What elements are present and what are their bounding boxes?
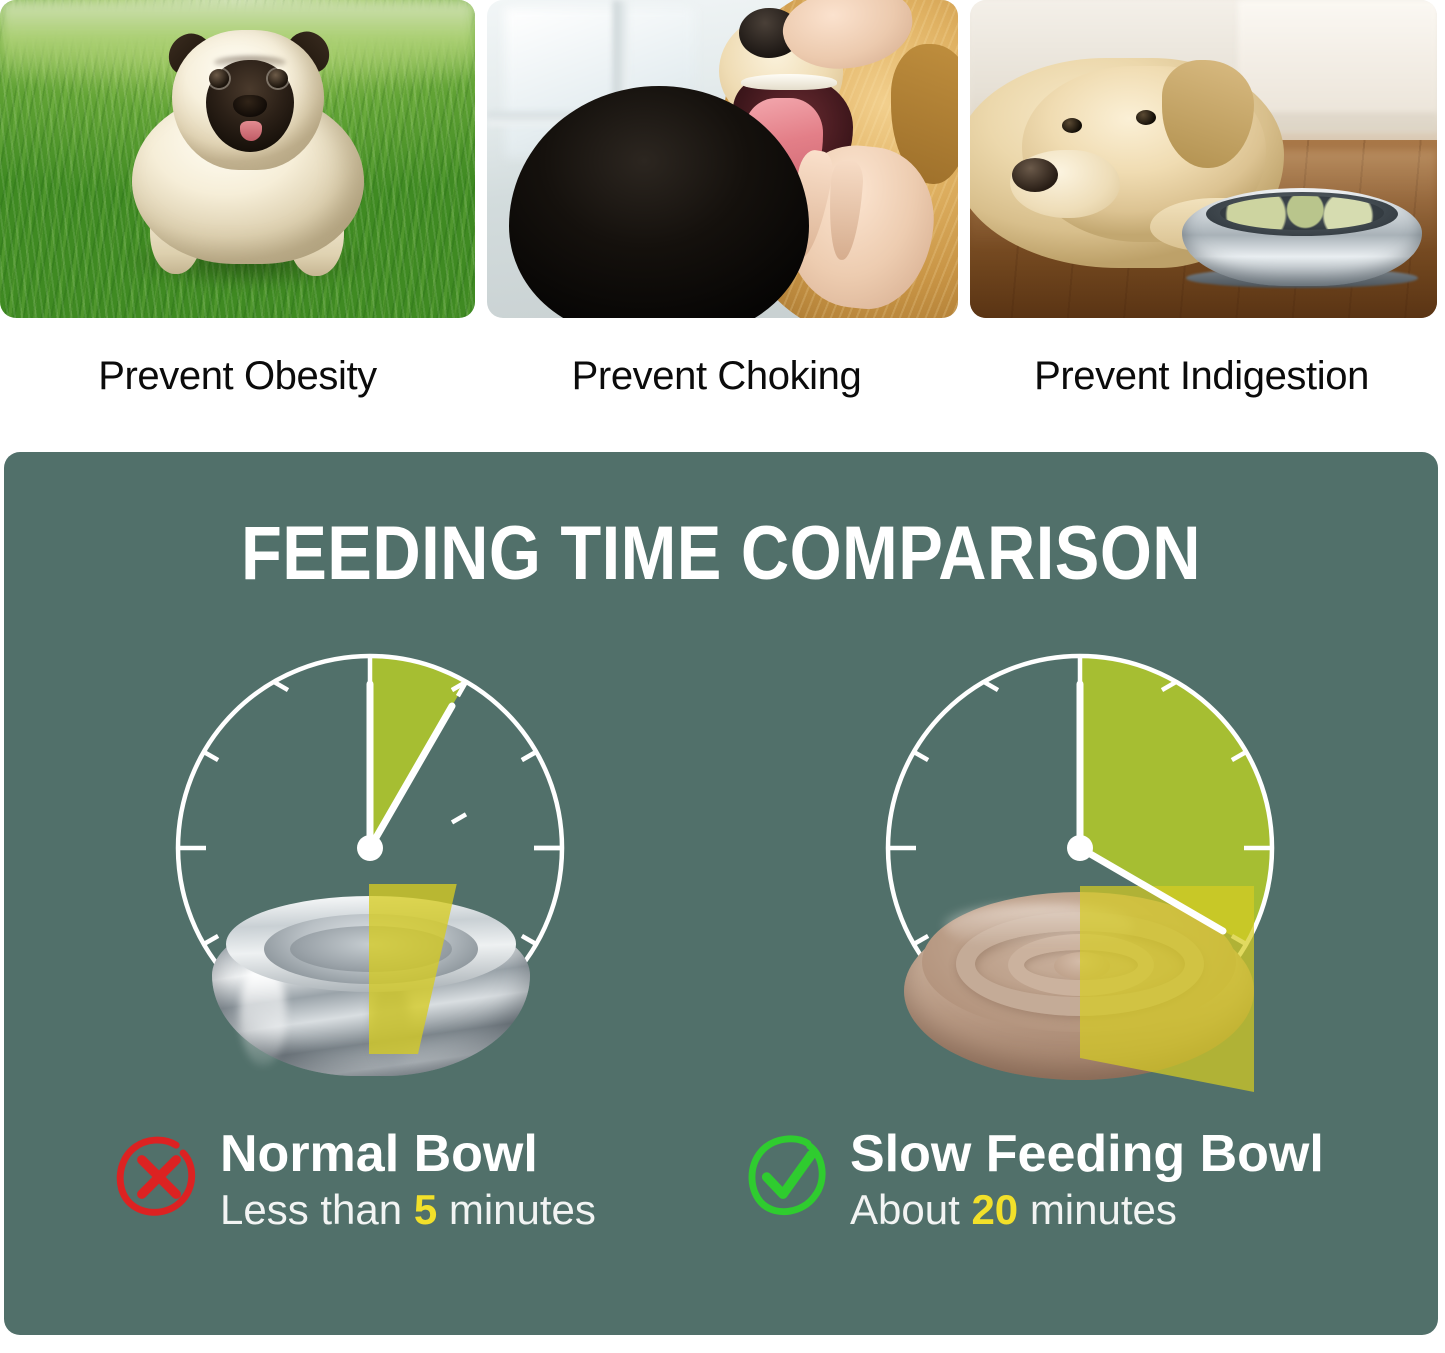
feeding-time-comparison-panel: FEEDING TIME COMPARISON	[4, 452, 1438, 1335]
normal-bowl-image	[212, 884, 530, 1096]
legend-sub-value: 5	[414, 1186, 437, 1233]
legend-sub-prefix: Less than	[220, 1186, 414, 1233]
slow-feeding-bowl-image	[904, 886, 1254, 1092]
legend-title-normal-bowl: Normal Bowl	[220, 1128, 596, 1181]
legend-sub-suffix: minutes	[437, 1186, 596, 1233]
caption-prevent-obesity: Prevent Obesity	[0, 326, 475, 426]
legend-sub-suffix: minutes	[1018, 1186, 1177, 1233]
legend-item-slow-feeding-bowl: Slow Feeding Bowl About 20 minutes	[746, 1128, 1324, 1237]
feature-image-strip	[0, 0, 1445, 318]
legend-item-normal-bowl: Normal Bowl Less than 5 minutes	[116, 1128, 596, 1237]
page-title: FEEDING TIME COMPARISON	[90, 510, 1352, 597]
check-mark-icon	[746, 1134, 832, 1220]
caption-prevent-indigestion: Prevent Indigestion	[958, 326, 1445, 426]
elapsed-wedge	[370, 656, 466, 848]
legend-subtitle-normal-bowl: Less than 5 minutes	[220, 1183, 596, 1237]
comparison-legend: Normal Bowl Less than 5 minutes Slow Fee…	[4, 1128, 1438, 1288]
caption-prevent-choking: Prevent Choking	[475, 326, 958, 426]
clock-comparison-area	[4, 648, 1438, 1068]
legend-subtitle-slow-feeding-bowl: About 20 minutes	[850, 1183, 1324, 1237]
legend-sub-prefix: About	[850, 1186, 971, 1233]
legend-sub-value: 20	[971, 1186, 1018, 1233]
cross-mark-icon	[116, 1134, 202, 1220]
feature-caption-row: Prevent Obesity Prevent Choking Prevent …	[0, 326, 1445, 426]
feature-image-prevent-choking	[487, 0, 958, 318]
feature-image-prevent-obesity	[0, 0, 475, 318]
legend-title-slow-feeding-bowl: Slow Feeding Bowl	[850, 1128, 1324, 1181]
feature-image-prevent-indigestion	[970, 0, 1437, 318]
